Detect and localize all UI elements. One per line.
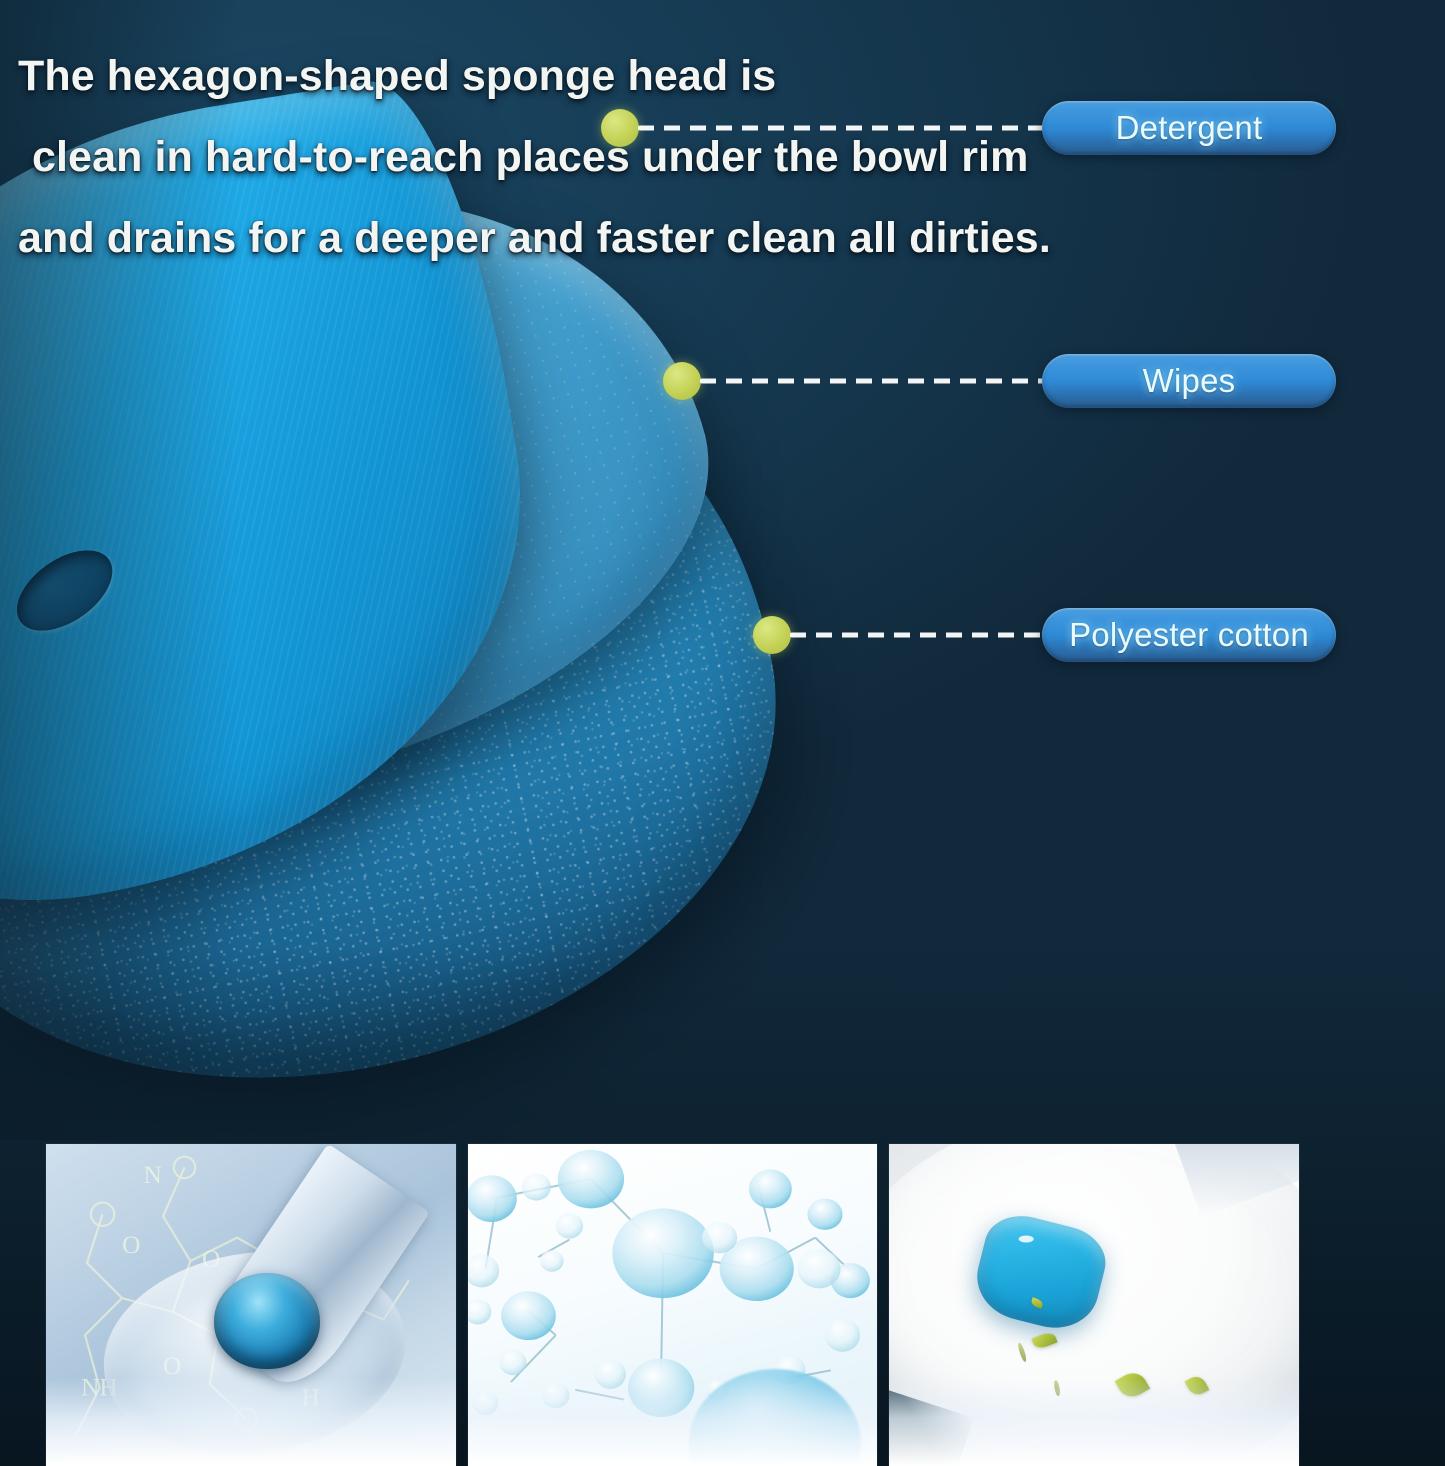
callout-leader-line-wipes [700,379,1046,384]
badge-wipes-label: Wipes [1143,362,1236,400]
callout-leader-line-detergent [638,126,1046,131]
sponge-layer-stack [0,95,850,1095]
svg-text:O: O [122,1231,140,1259]
badge-detergent-label: Detergent [1116,109,1263,147]
photo-panel-molecule[interactable] [468,1144,878,1466]
photo-panel-droplet[interactable]: N O O NH O H N [46,1144,456,1466]
panel-fade-overlay [889,1378,1299,1466]
svg-text:N: N [144,1161,162,1189]
panel-fade-overlay [46,1378,456,1466]
callout-dot-detergent [601,109,639,147]
headline-line-1: The hexagon-shaped sponge head is [18,52,776,100]
badge-wipes[interactable]: Wipes [1042,354,1336,408]
callout-dot-polyester-cotton [753,616,791,654]
badge-detergent[interactable]: Detergent [1042,101,1336,155]
photo-strip: N O O NH O H N [46,1144,1299,1466]
callout-leader-line-polyester-cotton [790,633,1046,638]
callout-dot-wipes [663,362,701,400]
product-infographic: The hexagon-shaped sponge head is clean … [0,0,1445,1466]
photo-panel-toilet-bowl[interactable] [889,1144,1299,1466]
panel-fade-overlay [468,1378,878,1466]
blue-droplet-shape [214,1273,321,1370]
badge-polyester-cotton[interactable]: Polyester cotton [1042,608,1336,662]
badge-polyester-cotton-label: Polyester cotton [1069,616,1309,654]
sponge-drain-hole-icon [3,534,127,647]
